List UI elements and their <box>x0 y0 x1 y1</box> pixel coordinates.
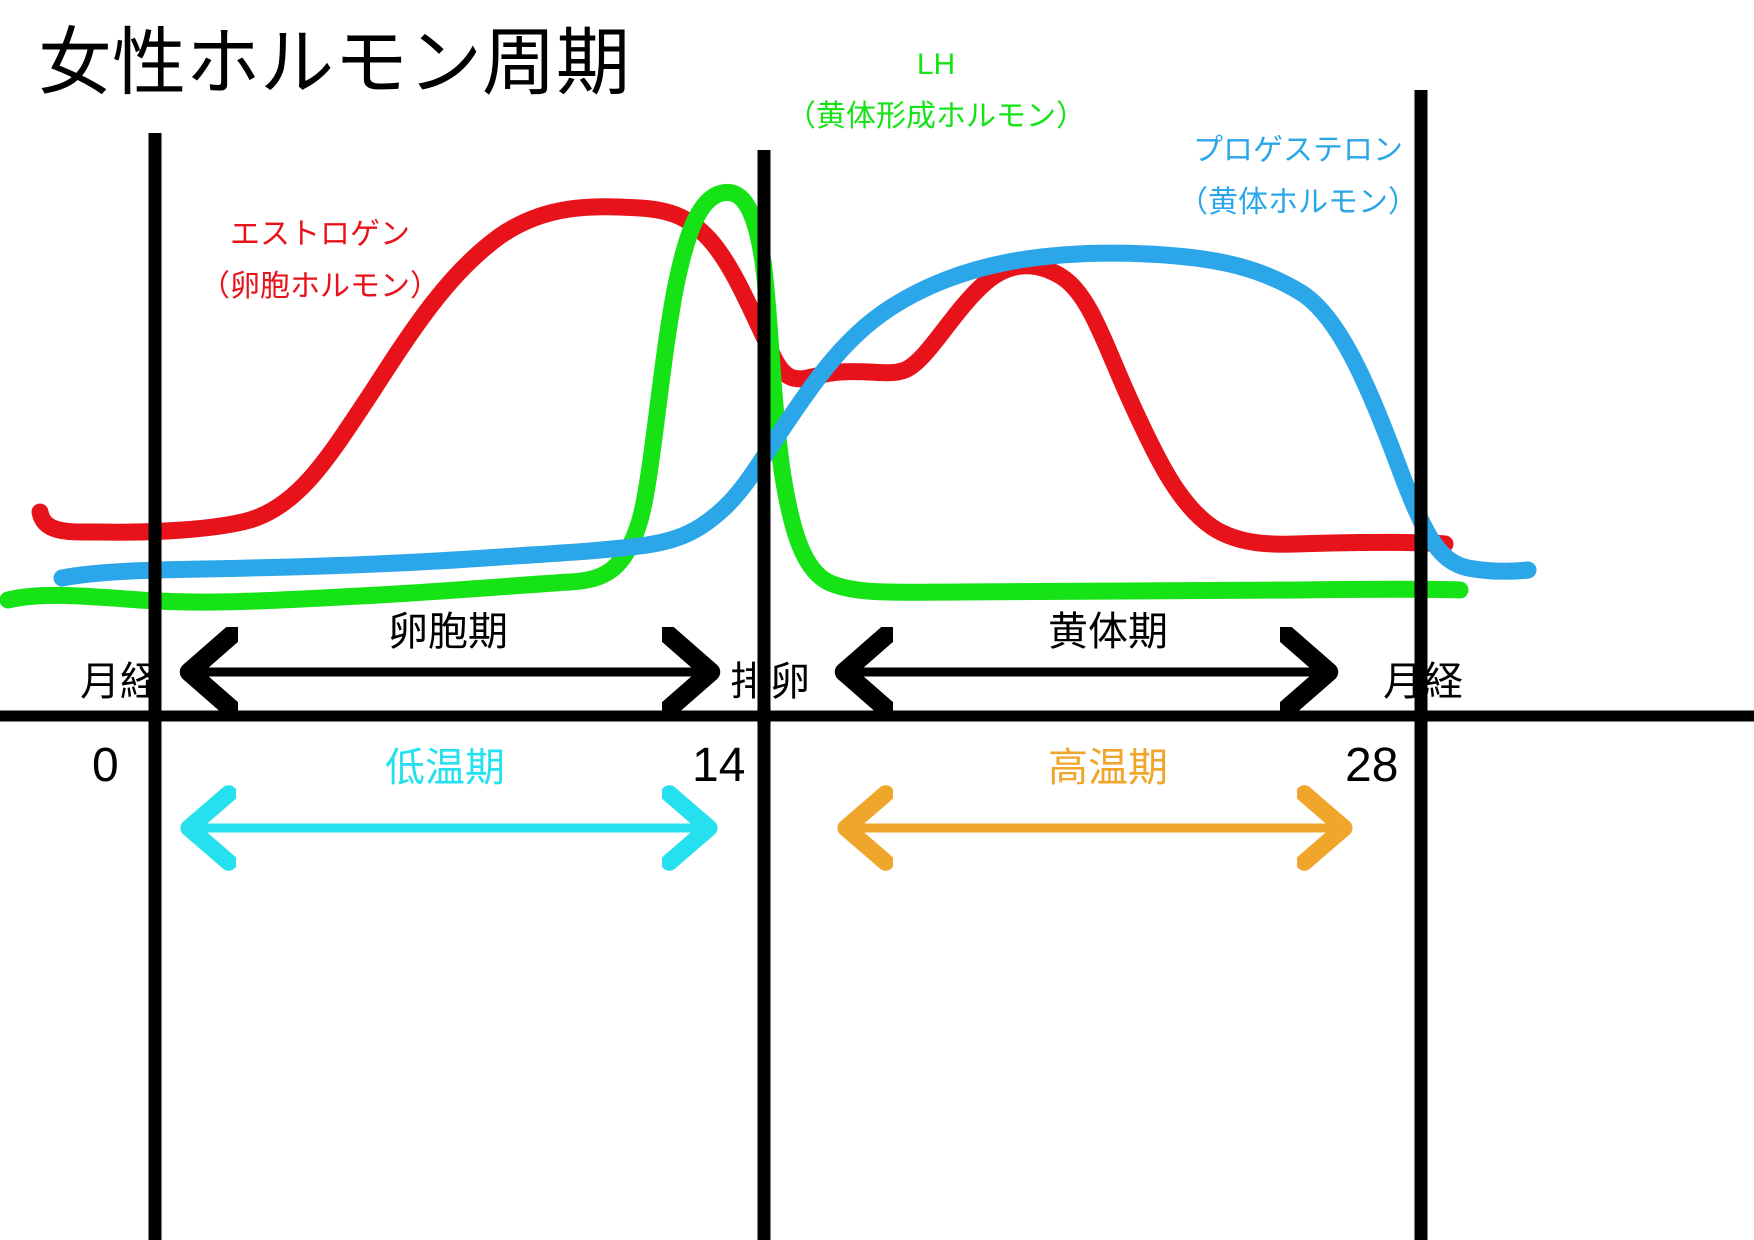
day-14-tick-label: 14 <box>692 742 745 790</box>
progesterone-series-alt-name: （黄体ホルモン） <box>1178 188 1418 218</box>
page-title: 女性ホルモン周期 <box>38 26 630 100</box>
estrogen-series-alt-name: （卵胞ホルモン） <box>200 272 440 302</box>
lh-series-alt-name: （黄体形成ホルモン） <box>786 102 1086 132</box>
day-0-tick-label: 0 <box>92 742 119 790</box>
menses-end-label: 月経 <box>1383 662 1463 702</box>
ovulation-label: 排卵 <box>730 662 810 702</box>
lh-series-label: LH （黄体形成ホルモン） <box>786 50 1086 132</box>
hormone-cycle-diagram: 女性ホルモン周期 エストロゲン （卵胞ホルモン） LH （黄体形成ホルモン） プ… <box>0 0 1754 1240</box>
low-temperature-phase-label: 低温期 <box>385 748 505 788</box>
progesterone-series-label: プロゲステロン （黄体ホルモン） <box>1178 136 1418 218</box>
follicular-phase-label: 卵胞期 <box>388 612 508 652</box>
progesterone-series-name: プロゲステロン <box>1178 136 1418 166</box>
estrogen-series-label: エストロゲン （卵胞ホルモン） <box>200 220 440 302</box>
lh-series-name: LH <box>786 50 1086 80</box>
luteal-phase-label: 黄体期 <box>1048 612 1168 652</box>
estrogen-series-name: エストロゲン <box>200 220 440 250</box>
chart-canvas <box>0 0 1754 1240</box>
menses-start-label: 月経 <box>80 662 160 702</box>
day-28-tick-label: 28 <box>1345 742 1398 790</box>
high-temperature-phase-label: 高温期 <box>1048 748 1168 788</box>
